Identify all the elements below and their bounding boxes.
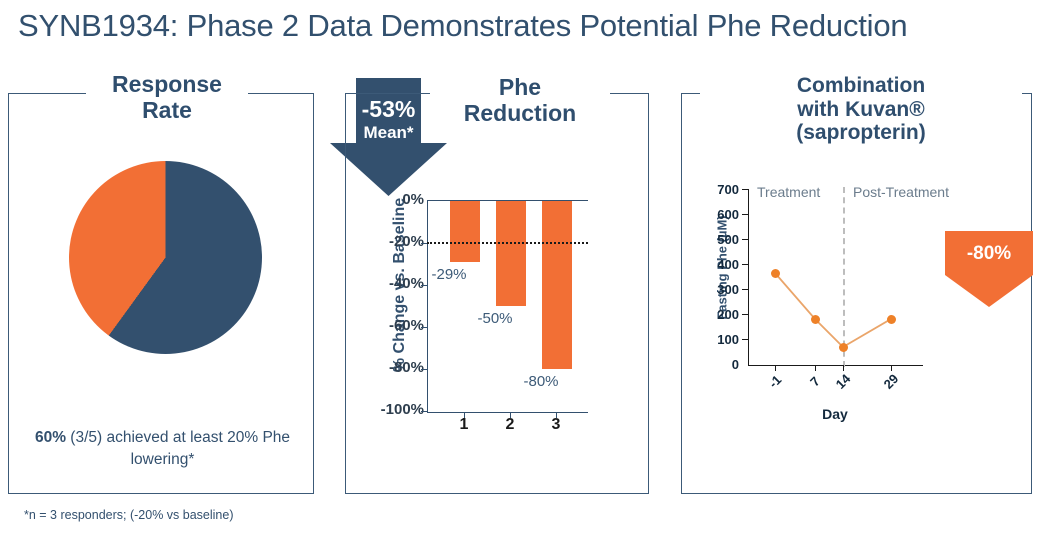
bar-value-label-3: -80%	[508, 373, 574, 390]
bar-xtick-1: 1	[449, 416, 479, 434]
bar-x-axis-line	[427, 412, 588, 413]
panel-2-title: Phe Reduction	[430, 75, 610, 127]
line-ytick-300: 300	[705, 282, 739, 297]
bar-xtick-3: 3	[541, 416, 571, 434]
bar-ytick-40: -40%	[362, 275, 424, 292]
kuvan-reduction-callout-value: -80%	[945, 243, 1033, 265]
line-ytick-200: 200	[705, 307, 739, 322]
line-chart-x-axis-label: Day	[765, 406, 905, 422]
bar-xtick-2: 2	[495, 416, 525, 434]
page-title: SYNB1934: Phase 2 Data Demonstrates Pote…	[18, 8, 1028, 44]
line-point-day--1	[771, 269, 780, 278]
bar-chart: % Change vs. Baseline 0% -20% -40% -60% …	[352, 190, 642, 455]
pie-chart	[69, 161, 262, 354]
line-ytick-400: 400	[705, 257, 739, 272]
bar-ytick-80: -80%	[362, 359, 424, 376]
bar-axis-tick-80	[421, 369, 428, 370]
response-rate-caption: 60% (3/5) achieved at least 20% Phe lowe…	[20, 427, 305, 472]
bar-value-label-2: -50%	[462, 310, 528, 327]
line-point-day-14	[839, 343, 848, 352]
panel-2-title-line1: Phe	[436, 75, 604, 101]
panel-3-title-line3: (sapropterin)	[706, 121, 1016, 145]
caption-bold-value: 60%	[35, 429, 66, 446]
panel-2-title-line2: Reduction	[436, 101, 604, 127]
panel-1-title-line2: Rate	[92, 98, 242, 124]
bar-rect-1	[450, 201, 480, 262]
panel-3-title-line2: with Kuvan®	[706, 98, 1016, 122]
line-ytick-0: 0	[705, 357, 739, 372]
line-ytick-100: 100	[705, 332, 739, 347]
line-xtick-29: 29	[874, 364, 909, 399]
line-point-day-29	[887, 315, 896, 324]
bar-ytick-100: -100%	[362, 401, 424, 418]
line-xtick-14: 14	[826, 364, 861, 399]
slide-footnote: *n = 3 responders; (-20% vs baseline)	[24, 508, 234, 522]
panel-3-title: Combination with Kuvan® (sapropterin)	[700, 74, 1022, 145]
caption-rest-text: (3/5) achieved at least 20% Phe lowering…	[66, 429, 290, 468]
bar-reference-line	[427, 242, 588, 244]
pie-slices	[69, 161, 262, 354]
line-ytick-700: 700	[705, 182, 739, 197]
bar-ytick-20: -20%	[362, 233, 424, 250]
line-ytick-600: 600	[705, 207, 739, 222]
bar-value-label-1: -29%	[416, 266, 482, 283]
line-ytick-500: 500	[705, 232, 739, 247]
line-point-day-7	[811, 315, 820, 324]
bar-rect-2	[496, 201, 526, 306]
bar-axis-tick-60	[421, 327, 428, 328]
panel-1-title-line1: Response	[92, 72, 242, 98]
line-xtick-7: 7	[798, 364, 833, 399]
line-xtick--1: -1	[758, 364, 793, 399]
bar-axis-tick-40	[421, 285, 428, 286]
panel-1-title: Response Rate	[86, 72, 248, 124]
bar-rect-3	[542, 201, 572, 369]
bar-ytick-60: -60%	[362, 317, 424, 334]
panel-3-title-line1: Combination	[706, 74, 1016, 98]
slide-canvas: SYNB1934: Phase 2 Data Demonstrates Pote…	[0, 0, 1039, 540]
line-plot-area	[748, 189, 923, 365]
bar-ytick-0: 0%	[362, 191, 424, 208]
